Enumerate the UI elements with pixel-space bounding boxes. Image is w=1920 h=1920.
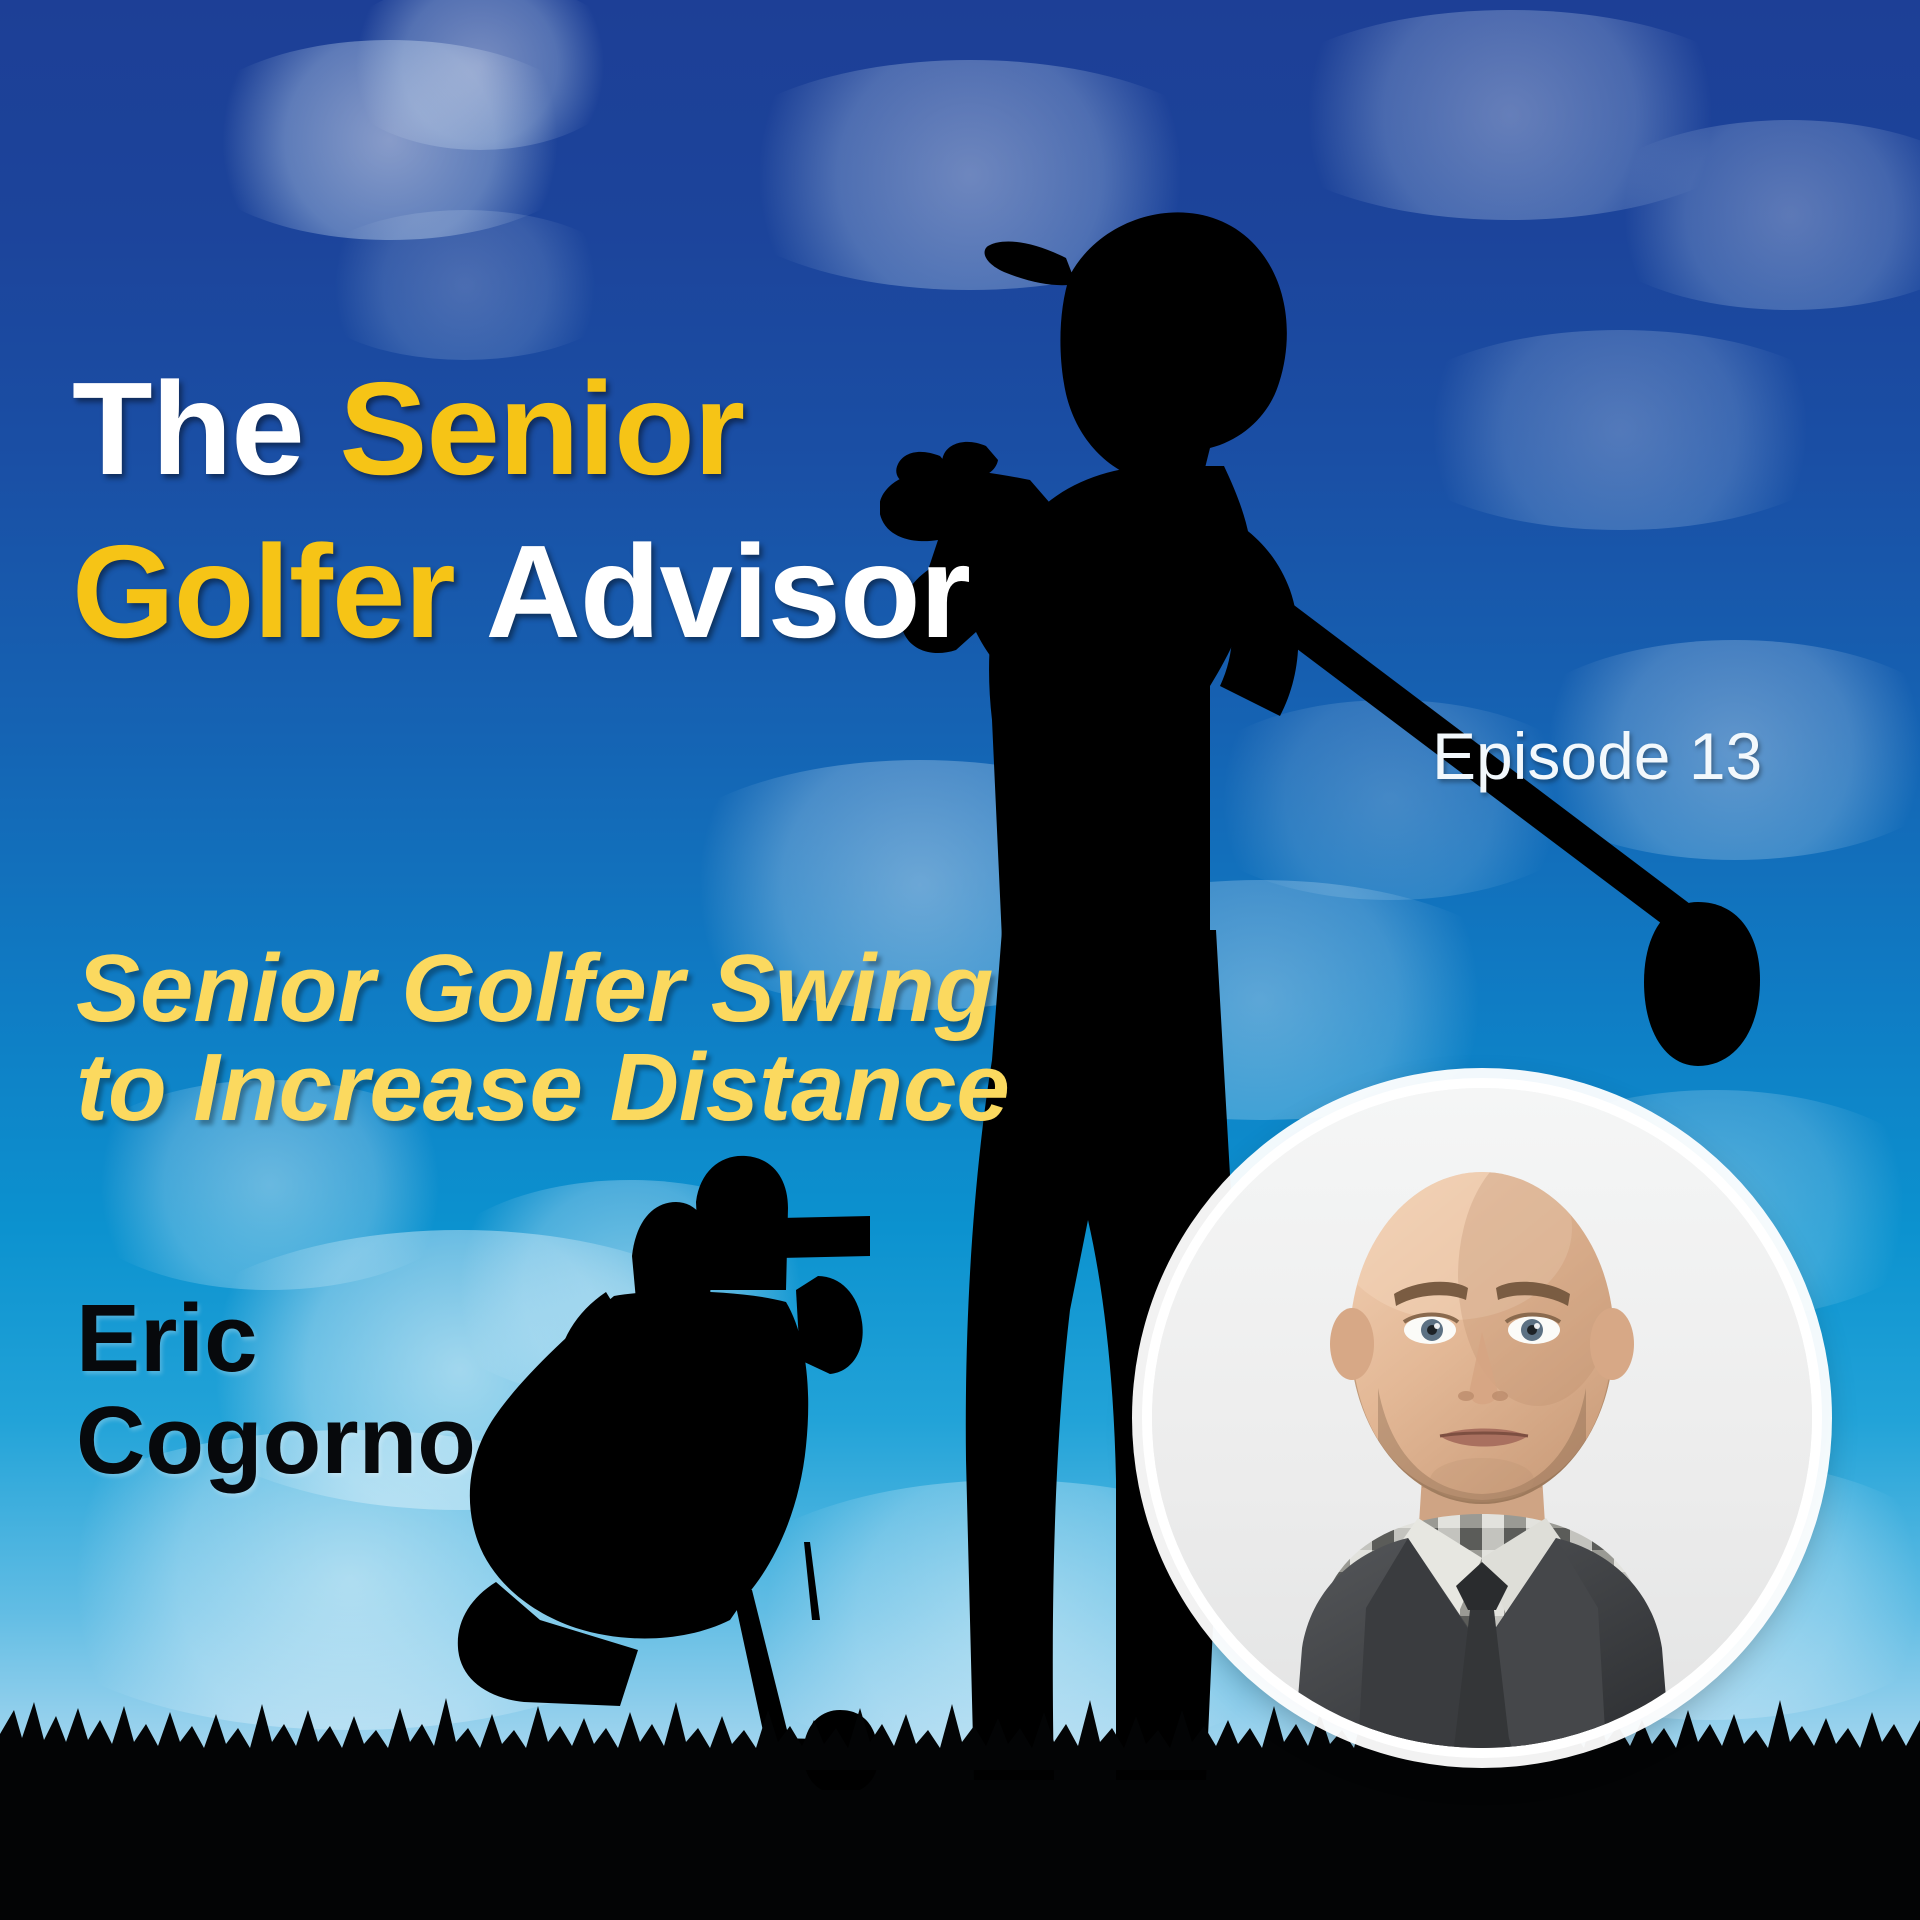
podcast-cover-art: The Senior Golfer Advisor Episode 13 Sen… <box>0 0 1920 1920</box>
episode-label: Episode 13 <box>1432 718 1762 794</box>
guest-first-name: Eric <box>76 1288 676 1390</box>
guest-photo-inner <box>1152 1088 1812 1748</box>
guest-last-name: Cogorno <box>76 1390 676 1492</box>
title-word-the: The <box>72 355 339 502</box>
title-line-1: The Senior <box>72 360 1132 497</box>
title-word-senior: Senior <box>339 355 744 502</box>
title-word-golfer: Golfer <box>72 518 455 665</box>
guest-portrait-illustration <box>1152 1088 1812 1748</box>
title-line-2: Golfer Advisor <box>72 523 1132 660</box>
show-title: The Senior Golfer Advisor <box>72 360 1132 661</box>
ground-base <box>0 1760 1920 1920</box>
episode-title: Senior Golfer Swing to Increase Distance <box>76 940 1086 1138</box>
title-word-advisor: Advisor <box>455 518 970 665</box>
guest-name: Eric Cogorno <box>76 1288 676 1492</box>
guest-photo <box>1142 1078 1822 1758</box>
